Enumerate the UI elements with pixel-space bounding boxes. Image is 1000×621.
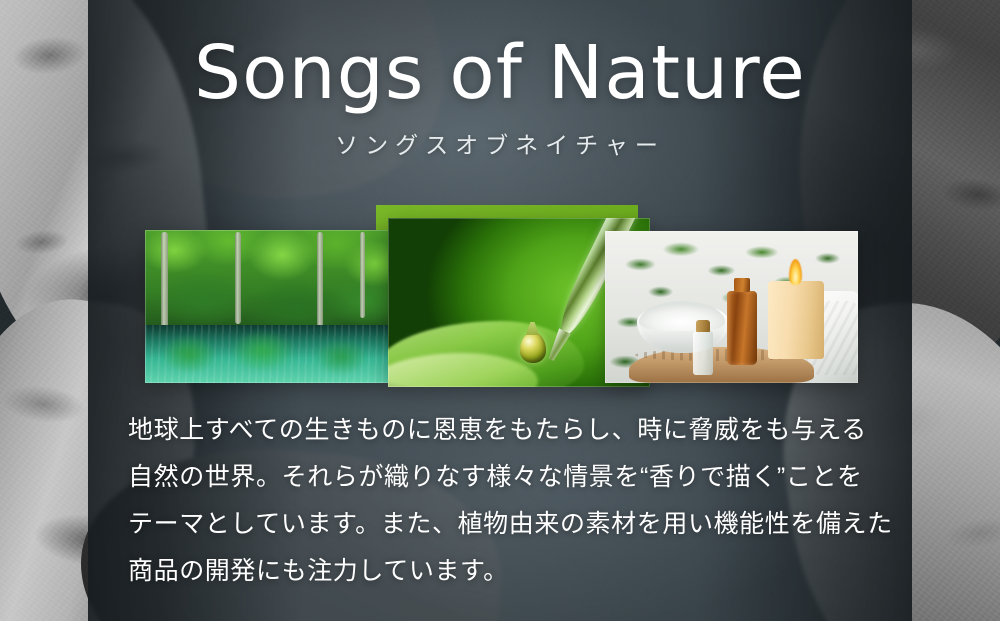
tree-trunk xyxy=(161,232,168,336)
gallery-image-spa-essentials[interactable] xyxy=(605,231,858,383)
tree-trunk xyxy=(235,232,241,324)
hero-banner: Songs of Nature ソングスオブネイチャー xyxy=(0,0,1000,621)
cork-vial xyxy=(693,331,713,375)
description-line: 地球上すべての生きものに恩恵をもたらし、時に脅威をも与える xyxy=(128,418,888,443)
oil-droplet xyxy=(520,332,546,363)
page-title: Songs of Nature xyxy=(0,34,1000,112)
pillar-candle xyxy=(768,281,824,359)
description-line: 商品の開発にも注力しています。 xyxy=(128,559,888,584)
hero-heading-group: Songs of Nature ソングスオブネイチャー xyxy=(0,34,1000,160)
gallery-image-forest-river[interactable] xyxy=(145,230,390,383)
description-line: テーマとしています。また、植物由来の素材を用い機能性を備えた xyxy=(128,512,888,537)
page-subtitle: ソングスオブネイチャー xyxy=(0,126,1000,160)
water-reflection xyxy=(145,325,390,383)
tree-trunk xyxy=(317,232,323,330)
amber-oil-bottle xyxy=(727,291,757,365)
description-line: 自然の世界。それらが織りなす様々な情景を“香りで描く”ことを xyxy=(128,465,888,490)
brand-description: 地球上すべての生きものに恩恵をもたらし、時に脅威をも与える 自然の世界。それらが… xyxy=(128,418,888,584)
tree-trunk xyxy=(360,232,365,318)
